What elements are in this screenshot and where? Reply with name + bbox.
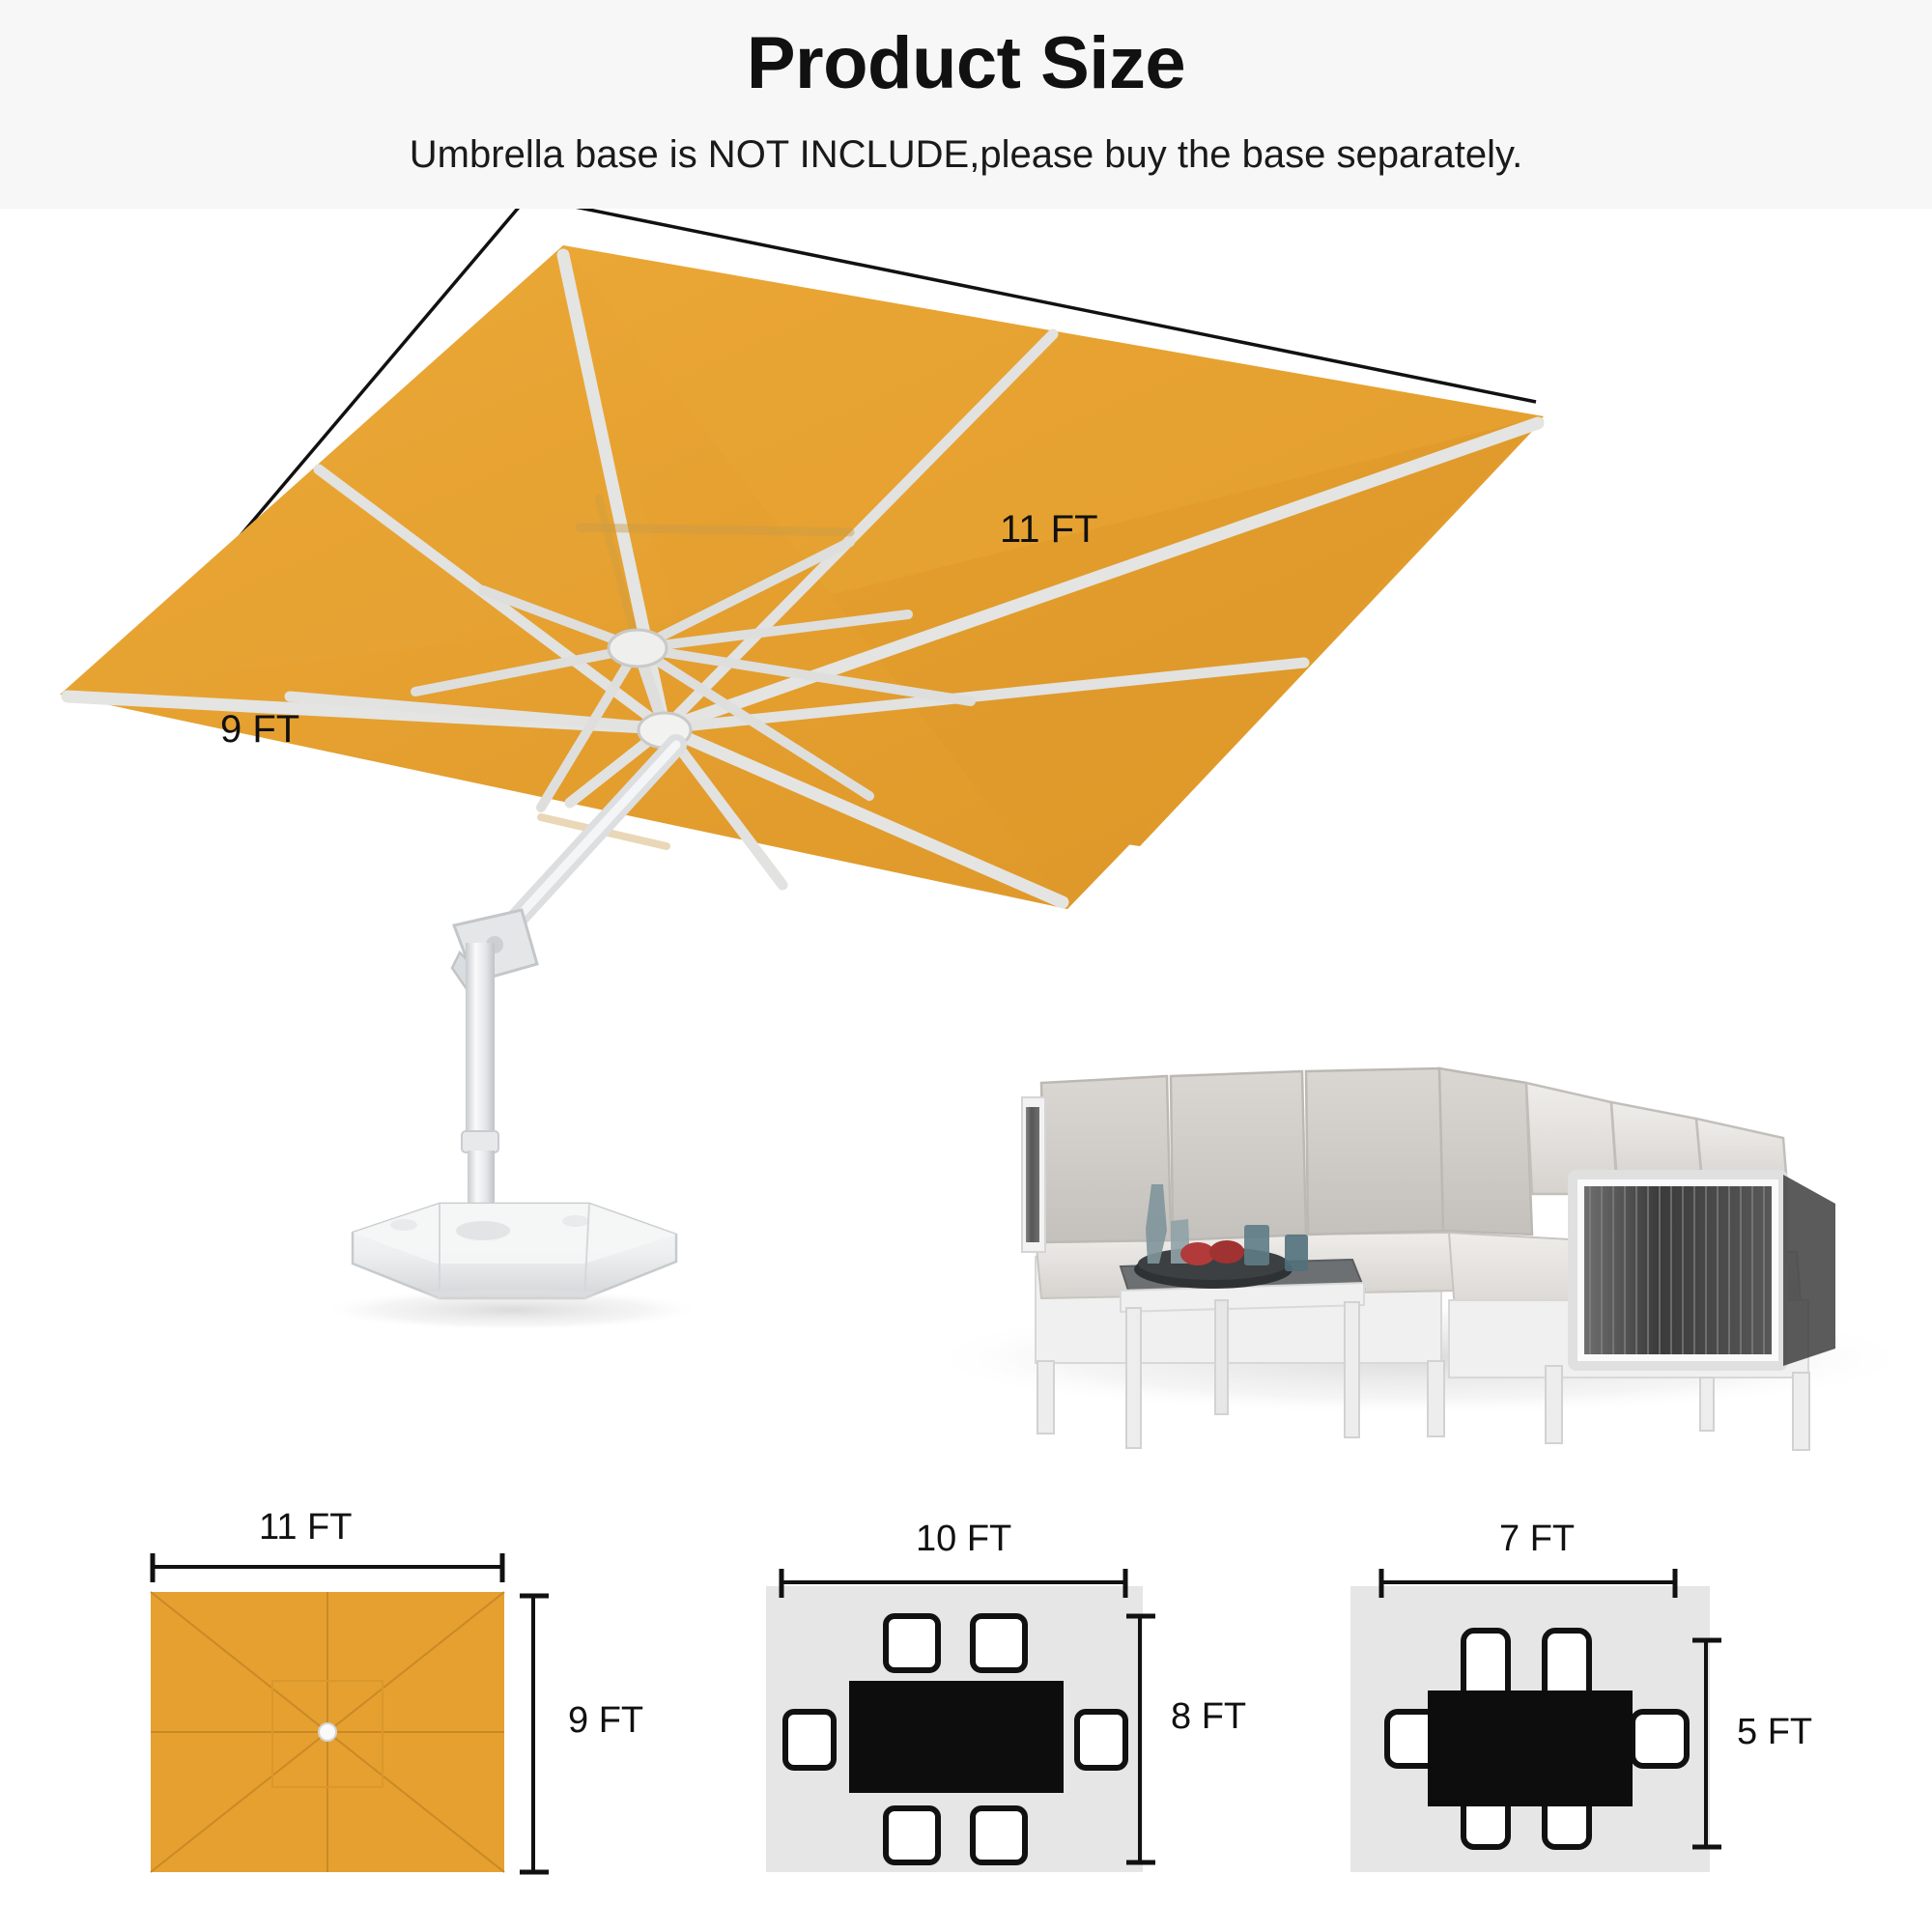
- umbrella-depth-label: 9 FT: [220, 708, 299, 752]
- upper-hub: [609, 630, 667, 667]
- page-subtitle: Umbrella base is NOT INCLUDE,please buy …: [0, 133, 1932, 176]
- area-5ft-height-label: 5 FT: [1737, 1712, 1812, 1753]
- patio-sectional-furniture: [918, 1068, 1922, 1450]
- decor-fruit-2: [1209, 1240, 1244, 1264]
- chair-top-left: [886, 1616, 938, 1670]
- back-cushion-2: [1171, 1071, 1306, 1240]
- rib-shadow-a: [580, 527, 850, 532]
- dimension-diagrams-row: 11 FT 9 FT 10 FT: [0, 1507, 1932, 1932]
- chair-right: [1633, 1712, 1687, 1766]
- decor-glass-2: [1285, 1235, 1308, 1271]
- armrest-weave-left: [1026, 1107, 1039, 1242]
- canopy-plan-width-label: 11 FT: [259, 1507, 352, 1548]
- base-fill-cap-right: [562, 1215, 589, 1227]
- table-10x8: [849, 1681, 1064, 1793]
- chair-bottom-left: [886, 1808, 938, 1862]
- chair-left: [785, 1712, 834, 1768]
- chair-bottom-right: [973, 1808, 1025, 1862]
- base-pole-socket: [456, 1221, 510, 1240]
- chair-right: [1077, 1712, 1125, 1768]
- sofa-far-side-panel: [1783, 1175, 1835, 1366]
- area-10ft-width-label: 10 FT: [916, 1519, 1011, 1560]
- base-floor-shadow: [319, 1289, 705, 1331]
- diagram-10x8-clearance: 10 FT 8 FT: [734, 1507, 1314, 1932]
- diagram-canopy-plan: 11 FT 9 FT: [97, 1507, 676, 1932]
- back-cushion-3: [1306, 1068, 1445, 1235]
- area-7ft-width-label: 7 FT: [1499, 1519, 1575, 1560]
- umbrella-and-furniture-illustration: [0, 209, 1932, 1484]
- table-leg-1: [1126, 1308, 1141, 1448]
- area-8ft-height-label: 8 FT: [1171, 1696, 1246, 1738]
- canopy-plan-height-label: 9 FT: [568, 1700, 643, 1742]
- table-leg-2: [1345, 1302, 1359, 1437]
- chair-top-right: [973, 1616, 1025, 1670]
- base-fill-cap-left: [390, 1219, 417, 1231]
- pole-collar: [462, 1131, 498, 1152]
- decor-glass-1: [1244, 1225, 1269, 1265]
- umbrella-width-label: 11 FT: [1000, 508, 1098, 552]
- pole-upper: [466, 943, 495, 1136]
- hero-scene: 11 FT 9 FT: [0, 209, 1932, 1484]
- umbrella-base-plate: [353, 1204, 676, 1298]
- back-cushion-4: [1439, 1068, 1532, 1235]
- canopy-plan-center-hub: [319, 1723, 336, 1741]
- page-title: Product Size: [0, 25, 1932, 102]
- diagram-7x5-clearance: 7 FT 5 FT: [1333, 1507, 1913, 1932]
- table-leg-3: [1215, 1300, 1228, 1414]
- table-7x5: [1428, 1690, 1633, 1806]
